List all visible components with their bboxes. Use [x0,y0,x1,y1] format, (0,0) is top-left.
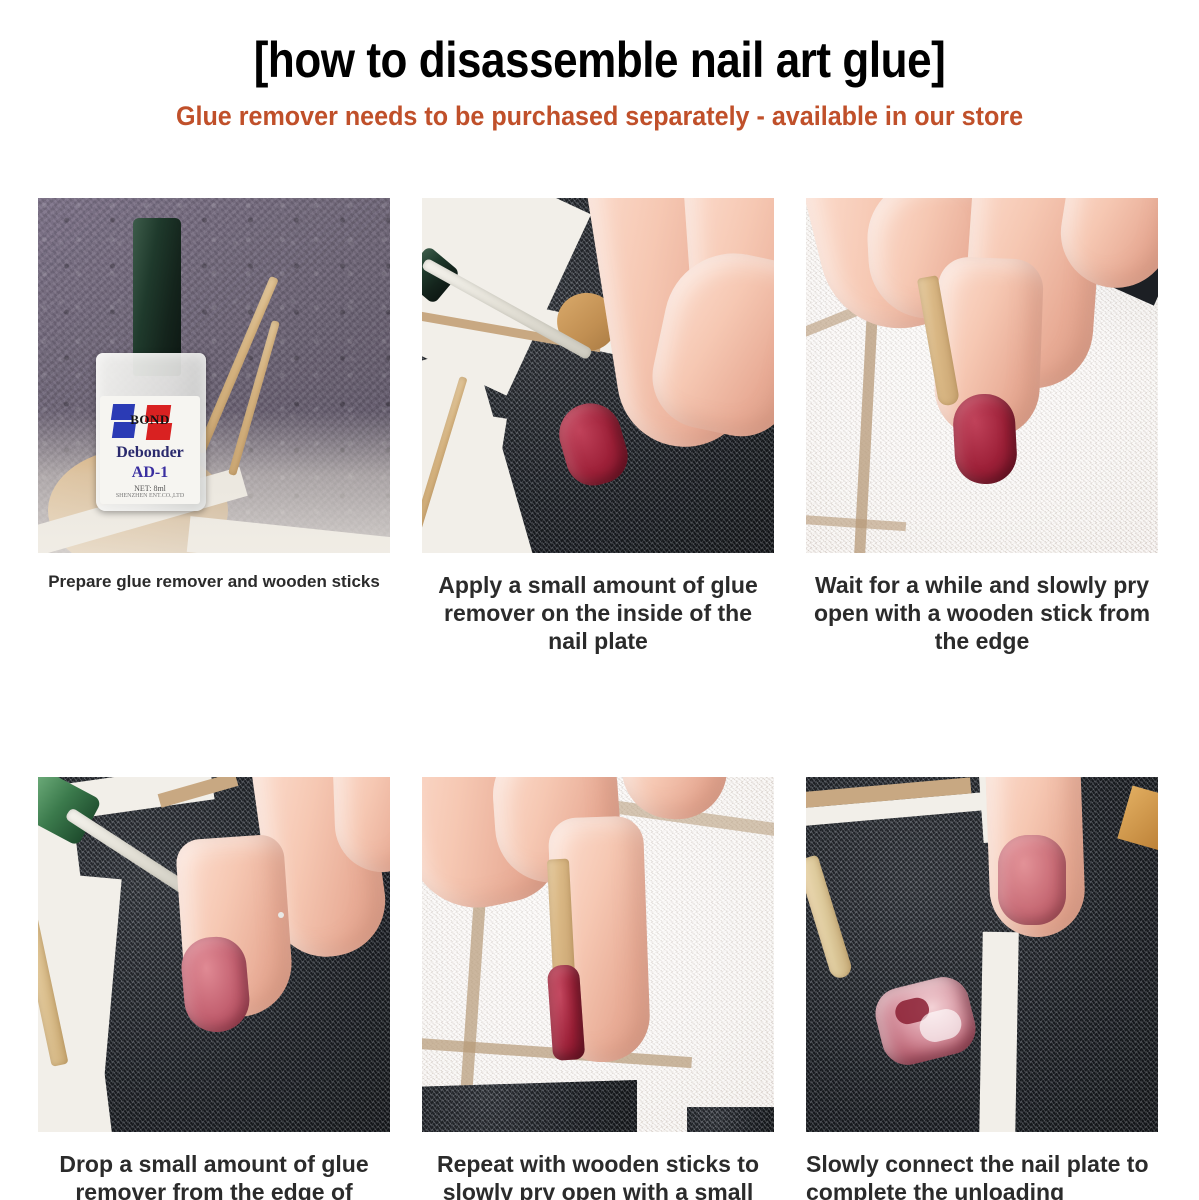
step-photo-1: BOND Debonder AD-1 NET: 8ml SHENZHEN ENT… [38,198,390,553]
page-header: [how to disassemble nail art glue] Glue … [0,0,1199,132]
bottle-brand: BOND [100,412,200,428]
step-item-6: Slowly connect the nail plate to complet… [806,777,1158,1200]
page-title: [how to disassemble nail art glue] [72,32,1127,88]
step-photo-5 [422,777,774,1132]
steps-row-2: Drop a small amount of glue remover from… [38,777,1162,1200]
step-photo-3 [806,198,1158,553]
step-caption-3: Wait for a while and slowly pry open wit… [806,571,1158,655]
red-nail-lifting [547,964,586,1061]
step-photo-2 [422,198,774,553]
bottle-label: BOND Debonder AD-1 NET: 8ml SHENZHEN ENT… [100,396,200,504]
step-photo-6 [806,777,1158,1132]
step-caption-5: Repeat with wooden sticks to slowly pry … [422,1150,774,1200]
floor-fade [38,198,390,553]
bottle-product-name: Debonder [100,444,200,462]
tutorial-page: [how to disassemble nail art glue] Glue … [0,0,1199,1200]
dust-speck [278,912,284,918]
step-item-5: Repeat with wooden sticks to slowly pry … [422,777,774,1200]
dark-patch [687,1107,774,1132]
step-caption-4: Drop a small amount of glue remover from… [38,1150,390,1200]
steps-grid: BOND Debonder AD-1 NET: 8ml SHENZHEN ENT… [38,198,1162,1200]
bottle-product-code: AD-1 [100,464,200,482]
dark-patch [422,1080,637,1132]
step-item-1: BOND Debonder AD-1 NET: 8ml SHENZHEN ENT… [38,198,390,655]
step-item-2: Apply a small amount of glue remover on … [422,198,774,655]
step-photo-4 [38,777,390,1132]
page-subtitle: Glue remover needs to be purchased separ… [42,100,1157,132]
bottle-net-volume: NET: 8ml [100,484,200,493]
white-stripe [979,932,1019,1132]
step-caption-1: Prepare glue remover and wooden sticks [38,571,390,593]
step-caption-6: Slowly connect the nail plate to complet… [806,1150,1158,1200]
step-caption-2: Apply a small amount of glue remover on … [422,571,774,655]
red-nail [952,392,1019,485]
step-item-4: Drop a small amount of glue remover from… [38,777,390,1200]
finger-nail [998,835,1066,925]
bottle-manufacturer: SHENZHEN ENT.CO.,LTD [100,493,200,499]
step-item-3: Wait for a while and slowly pry open wit… [806,198,1158,655]
steps-row-1: BOND Debonder AD-1 NET: 8ml SHENZHEN ENT… [38,198,1162,655]
